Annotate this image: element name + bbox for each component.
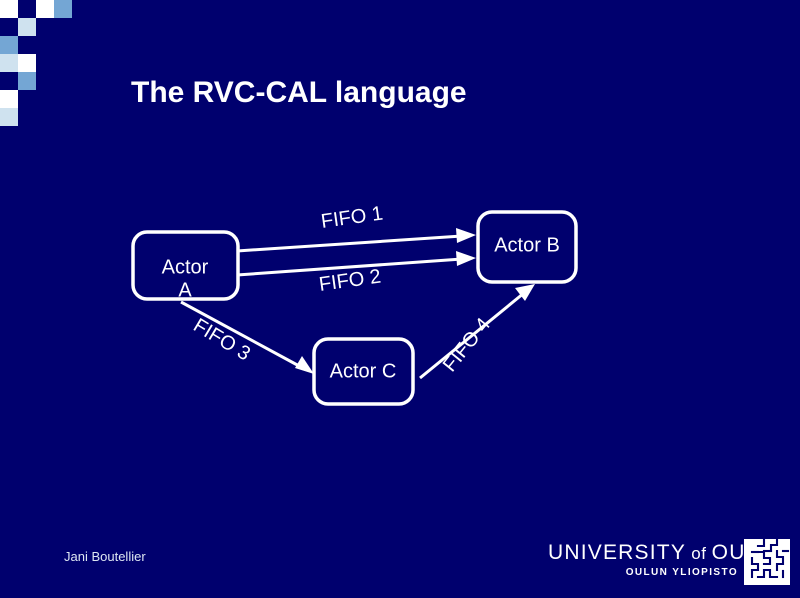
dataflow-diagram: Actor A Actor B Actor C FIFO 1 FIFO 2 FI… <box>0 0 800 598</box>
university-name-of: of <box>686 544 712 563</box>
footer-author: Jani Boutellier <box>64 549 146 564</box>
university-logo: UNIVERSITY of OULU OULUN YLIOPISTO <box>548 541 788 587</box>
actor-a-label-line2: A <box>178 279 192 301</box>
university-maze-icon <box>744 539 790 585</box>
presentation-slide: The RVC-CAL language <box>0 0 800 598</box>
connection-label-fifo3: FIFO 3 <box>189 314 254 365</box>
actor-c-label: Actor C <box>330 360 397 382</box>
university-name-part1: UNIVERSITY <box>548 541 686 564</box>
actor-b-label: Actor B <box>494 234 560 256</box>
university-name-finnish: OULUN YLIOPISTO <box>548 566 738 579</box>
university-logo-text: UNIVERSITY of OULU OULUN YLIOPISTO <box>548 541 738 579</box>
actor-node-a[interactable]: Actor A <box>133 232 238 301</box>
actor-node-b[interactable]: Actor B <box>478 212 576 282</box>
actor-node-c[interactable]: Actor C <box>314 339 413 404</box>
actor-a-label-line1: Actor <box>162 256 209 278</box>
connection-fifo1 <box>237 228 476 251</box>
university-name: UNIVERSITY of OULU <box>548 541 738 566</box>
connection-label-fifo4: FIFO 4 <box>439 314 495 376</box>
connection-label-fifo1: FIFO 1 <box>320 203 385 233</box>
